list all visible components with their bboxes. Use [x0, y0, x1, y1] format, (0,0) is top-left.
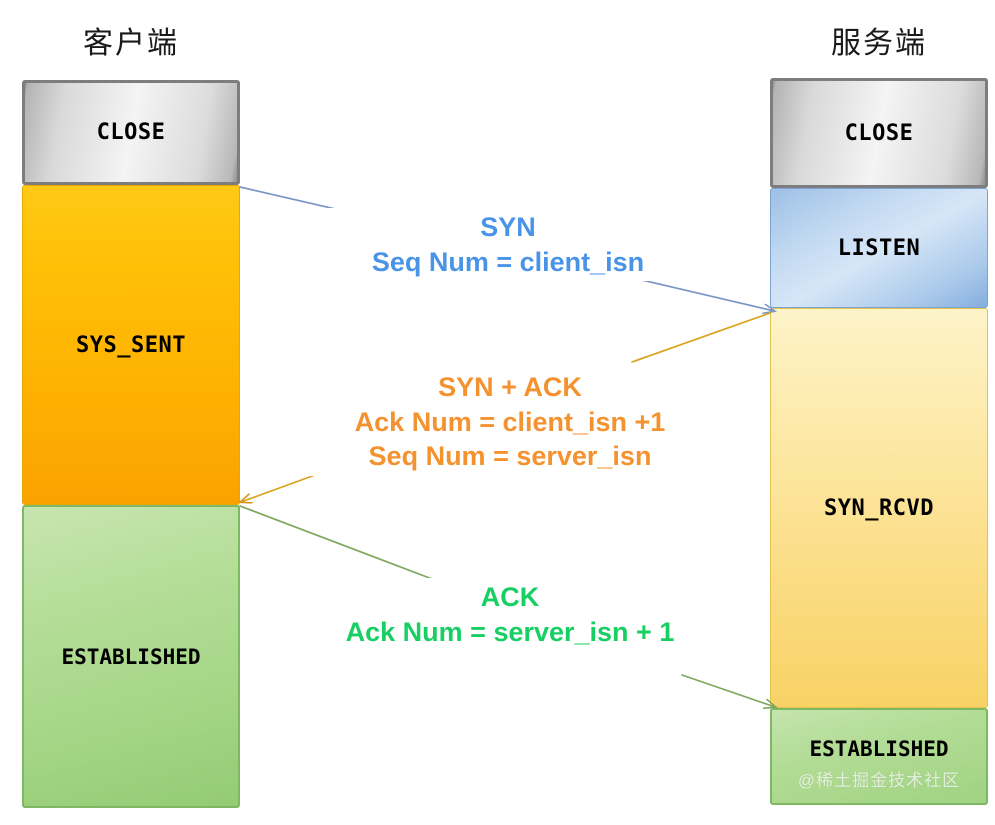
client-state-column: CLOSE SYS_SENT ESTABLISHED [22, 80, 240, 808]
server-column-title: 服务端 [770, 18, 988, 62]
server-state-listen-label: LISTEN [838, 236, 920, 261]
client-state-close-label: CLOSE [97, 120, 166, 145]
message-syn-ack-line1: SYN + ACK [310, 370, 710, 405]
watermark-text: @稀土掘金技术社区 [772, 766, 986, 791]
client-state-established: ESTABLISHED [22, 505, 240, 808]
server-state-established-label: ESTABLISHED [809, 737, 948, 761]
client-state-sys-sent-label: SYS_SENT [76, 333, 186, 358]
client-state-established-label: ESTABLISHED [61, 645, 200, 669]
message-label-syn-ack: SYN + ACK Ack Num = client_isn +1 Seq Nu… [300, 368, 720, 476]
message-syn-ack-line3: Seq Num = server_isn [310, 439, 710, 474]
message-ack-line2: Ack Num = server_isn + 1 [320, 615, 700, 650]
server-state-close: CLOSE [770, 78, 988, 188]
message-syn-line1: SYN [328, 210, 688, 245]
message-ack-line1: ACK [320, 580, 700, 615]
server-state-listen: LISTEN [770, 188, 988, 308]
message-label-syn: SYN Seq Num = client_isn [318, 208, 698, 281]
server-state-established: ESTABLISHED @稀土掘金技术社区 [770, 708, 988, 805]
client-state-sys-sent: SYS_SENT [22, 185, 240, 505]
server-state-syn-rcvd: SYN_RCVD [770, 308, 988, 708]
server-state-close-label: CLOSE [845, 121, 914, 146]
tcp-handshake-diagram: 客户端 服务端 CLOSE SYS_SENT ESTABLISHED CLOSE… [0, 0, 995, 825]
server-state-column: CLOSE LISTEN SYN_RCVD ESTABLISHED @稀土掘金技… [770, 78, 988, 805]
message-syn-line2: Seq Num = client_isn [328, 245, 688, 280]
server-state-syn-rcvd-label: SYN_RCVD [824, 496, 934, 521]
client-column-title: 客户端 [22, 18, 240, 62]
message-label-ack: ACK Ack Num = server_isn + 1 [310, 578, 710, 651]
message-syn-ack-line2: Ack Num = client_isn +1 [310, 405, 710, 440]
client-state-close: CLOSE [22, 80, 240, 185]
